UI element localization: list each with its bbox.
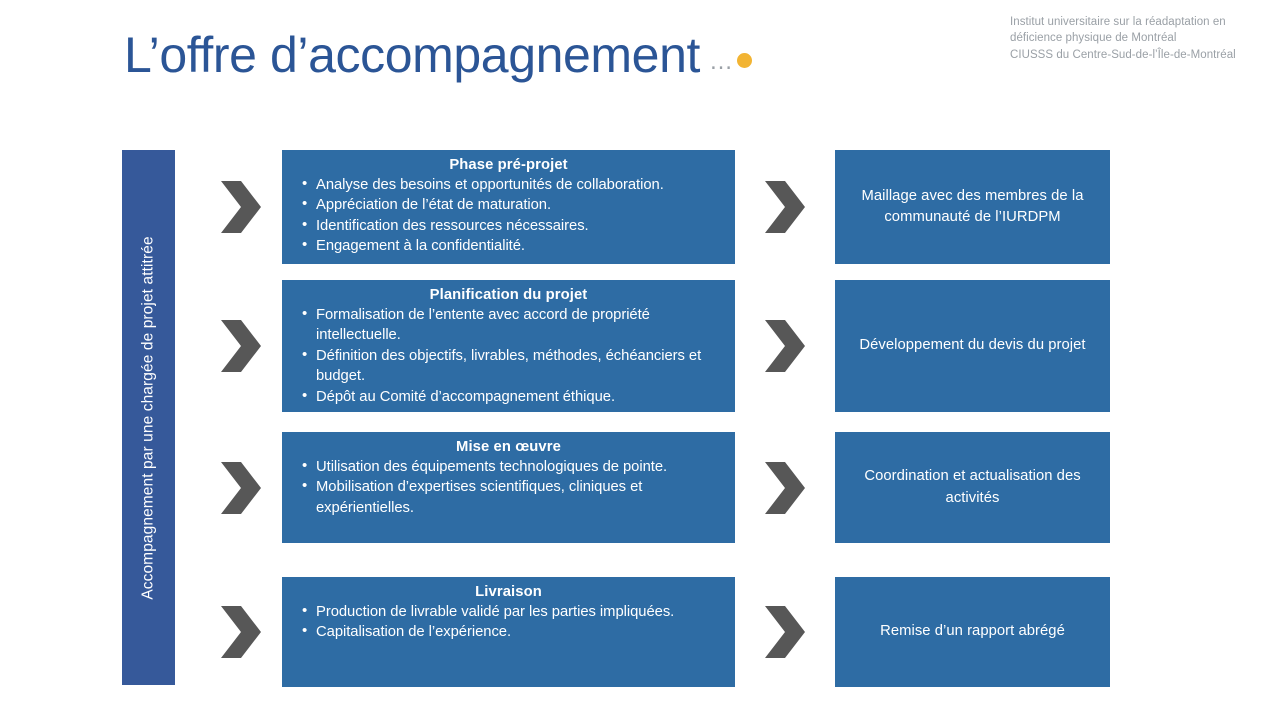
chevron-right-icon	[765, 462, 805, 514]
outcome-text: Maillage avec des membres de la communau…	[849, 186, 1096, 229]
outcome-text: Coordination et actualisation des activi…	[849, 466, 1096, 509]
chevron-right-icon	[221, 181, 261, 233]
phase-detail-box: Planification du projet Formalisation de…	[282, 280, 735, 412]
vertical-band-label: Accompagnement par une chargée de projet…	[140, 236, 158, 599]
page-title: L’offre d’accompagnement …	[124, 28, 752, 83]
outcome-box: Coordination et actualisation des activi…	[835, 432, 1110, 543]
list-item: Formalisation de l’entente avec accord d…	[316, 305, 725, 346]
outcome-box: Remise d’un rapport abrégé	[835, 577, 1110, 687]
list-item: Production de livrable validé par les pa…	[316, 602, 725, 622]
phase-bullet-list: Production de livrable validé par les pa…	[292, 602, 725, 643]
phase-bullet-list: Utilisation des équipements technologiqu…	[292, 457, 725, 518]
chevron-cell-right	[735, 432, 835, 543]
org-line-1: Institut universitaire sur la réadaptati…	[1010, 14, 1268, 30]
chevron-right-icon	[221, 606, 261, 658]
process-row: Phase pré-projet Analyse des besoins et …	[200, 150, 1280, 264]
chevron-right-icon	[765, 320, 805, 372]
org-line-2: déficience physique de Montréal	[1010, 30, 1268, 46]
list-item: Identification des ressources nécessaire…	[316, 216, 725, 236]
process-row: Planification du projet Formalisation de…	[200, 280, 1280, 412]
process-row: Livraison Production de livrable validé …	[200, 577, 1280, 687]
chevron-cell-left	[200, 150, 282, 264]
list-item: Engagement à la confidentialité.	[316, 236, 725, 256]
chevron-cell-right	[735, 280, 835, 412]
phase-title: Mise en œuvre	[292, 439, 725, 455]
phase-title: Planification du projet	[292, 287, 725, 303]
chevron-right-icon	[765, 181, 805, 233]
page-title-text: L’offre d’accompagnement	[124, 28, 700, 83]
list-item: Capitalisation de l’expérience.	[316, 622, 725, 642]
phase-title: Livraison	[292, 584, 725, 600]
list-item: Appréciation de l’état de maturation.	[316, 195, 725, 215]
outcome-box: Développement du devis du projet	[835, 280, 1110, 412]
phase-detail-box: Phase pré-projet Analyse des besoins et …	[282, 150, 735, 264]
phase-bullet-list: Analyse des besoins et opportunités de c…	[292, 175, 725, 257]
chevron-cell-right	[735, 150, 835, 264]
outcome-text: Remise d’un rapport abrégé	[880, 621, 1065, 642]
outcome-text: Développement du devis du projet	[859, 335, 1085, 356]
vertical-band-accompaniment: Accompagnement par une chargée de projet…	[122, 150, 175, 685]
list-item: Dépôt au Comité d’accompagnement éthique…	[316, 387, 725, 407]
list-item: Mobilisation d’expertises scientifiques,…	[316, 477, 725, 518]
list-item: Définition des objectifs, livrables, mét…	[316, 346, 725, 387]
chevron-right-icon	[221, 462, 261, 514]
chevron-cell-left	[200, 280, 282, 412]
chevron-right-icon	[765, 606, 805, 658]
outcome-box: Maillage avec des membres de la communau…	[835, 150, 1110, 264]
list-item: Analyse des besoins et opportunités de c…	[316, 175, 725, 195]
phase-detail-box: Mise en œuvre Utilisation des équipement…	[282, 432, 735, 543]
chevron-cell-right	[735, 577, 835, 687]
chevron-right-icon	[221, 320, 261, 372]
chevron-cell-left	[200, 432, 282, 543]
phase-bullet-list: Formalisation de l’entente avec accord d…	[292, 305, 725, 407]
process-row: Mise en œuvre Utilisation des équipement…	[200, 432, 1280, 543]
org-line-3: CIUSSS du Centre-Sud-de-l’Île-de-Montréa…	[1010, 47, 1268, 63]
organization-credit: Institut universitaire sur la réadaptati…	[1010, 14, 1268, 63]
accent-dot-icon	[737, 53, 752, 68]
title-ellipsis: …	[709, 48, 735, 76]
list-item: Utilisation des équipements technologiqu…	[316, 457, 725, 477]
phase-title: Phase pré-projet	[292, 157, 725, 173]
chevron-cell-left	[200, 577, 282, 687]
phase-detail-box: Livraison Production de livrable validé …	[282, 577, 735, 687]
